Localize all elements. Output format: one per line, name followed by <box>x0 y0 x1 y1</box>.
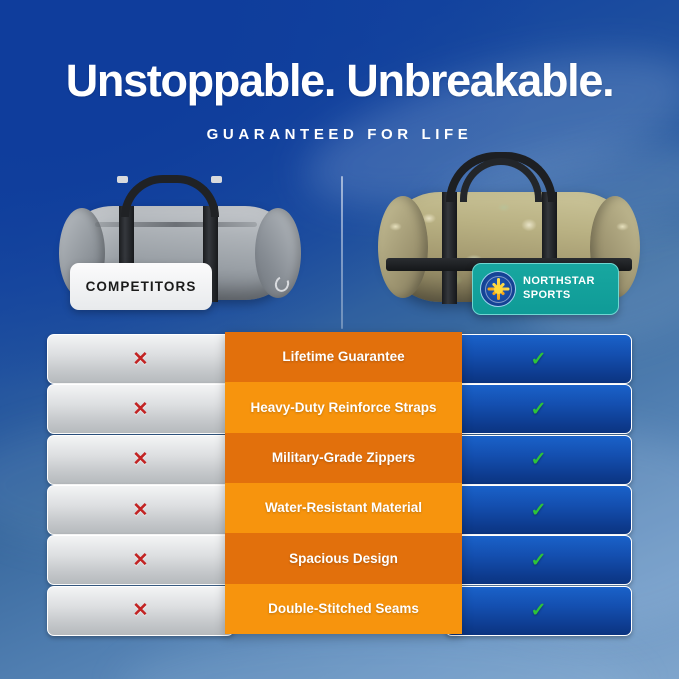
feature-label: Heavy-Duty Reinforce Straps <box>225 382 462 432</box>
feature-column: Lifetime GuaranteeHeavy-Duty Reinforce S… <box>225 332 462 634</box>
logo-core <box>494 285 503 294</box>
check-icon: ✓ <box>531 501 547 520</box>
cross-icon: ✕ <box>133 501 149 520</box>
product-comparison-infographic: Unstoppable. Unbreakable. GUARANTEED FOR… <box>0 0 679 679</box>
northstar-brand-badge: NORTHSTAR SPORTS <box>472 263 619 315</box>
bag-handle <box>121 175 219 217</box>
competitors-label: COMPETITORS <box>70 263 212 310</box>
northstar-cell: ✓ <box>445 485 632 535</box>
competitors-label-text: COMPETITORS <box>86 279 197 294</box>
cloud-wisp <box>120 630 640 679</box>
bag-handle-clip <box>211 176 222 183</box>
feature-label: Double-Stitched Seams <box>225 584 462 634</box>
feature-label: Lifetime Guarantee <box>225 332 462 382</box>
brand-name-line1: NORTHSTAR <box>523 275 595 289</box>
cloud-wisp <box>430 430 679 630</box>
competitor-cell: ✕ <box>47 435 234 485</box>
check-icon: ✓ <box>531 601 547 620</box>
check-icon: ✓ <box>531 400 547 419</box>
page-subtitle: GUARANTEED FOR LIFE <box>0 126 679 143</box>
northstar-cell: ✓ <box>445 435 632 485</box>
cross-icon: ✕ <box>133 450 149 469</box>
bag-strap <box>442 192 457 304</box>
bag-end-cap-left <box>378 196 428 298</box>
feature-label: Water-Resistant Material <box>225 483 462 533</box>
competitor-cell: ✕ <box>47 535 234 585</box>
northstar-cell: ✓ <box>445 334 632 384</box>
cross-icon: ✕ <box>133 551 149 570</box>
bag-handle-clip <box>117 176 128 183</box>
compass-star-icon <box>480 271 516 307</box>
competitor-cell: ✕ <box>47 485 234 535</box>
northstar-cell: ✓ <box>445 586 632 636</box>
check-icon: ✓ <box>531 350 547 369</box>
cross-icon: ✕ <box>133 350 149 369</box>
vertical-divider <box>341 176 343 329</box>
feature-label: Military-Grade Zippers <box>225 433 462 483</box>
northstar-cell: ✓ <box>445 384 632 434</box>
cross-icon: ✕ <box>133 601 149 620</box>
competitor-cell: ✕ <box>47 384 234 434</box>
competitor-cell: ✕ <box>47 586 234 636</box>
brand-name-line2: SPORTS <box>523 289 595 303</box>
page-title: Unstoppable. Unbreakable. <box>0 57 679 104</box>
feature-label: Spacious Design <box>225 533 462 583</box>
check-icon: ✓ <box>531 551 547 570</box>
northstar-cell: ✓ <box>445 535 632 585</box>
cross-icon: ✕ <box>133 400 149 419</box>
check-icon: ✓ <box>531 450 547 469</box>
competitor-cell: ✕ <box>47 334 234 384</box>
brand-name: NORTHSTAR SPORTS <box>523 275 595 303</box>
